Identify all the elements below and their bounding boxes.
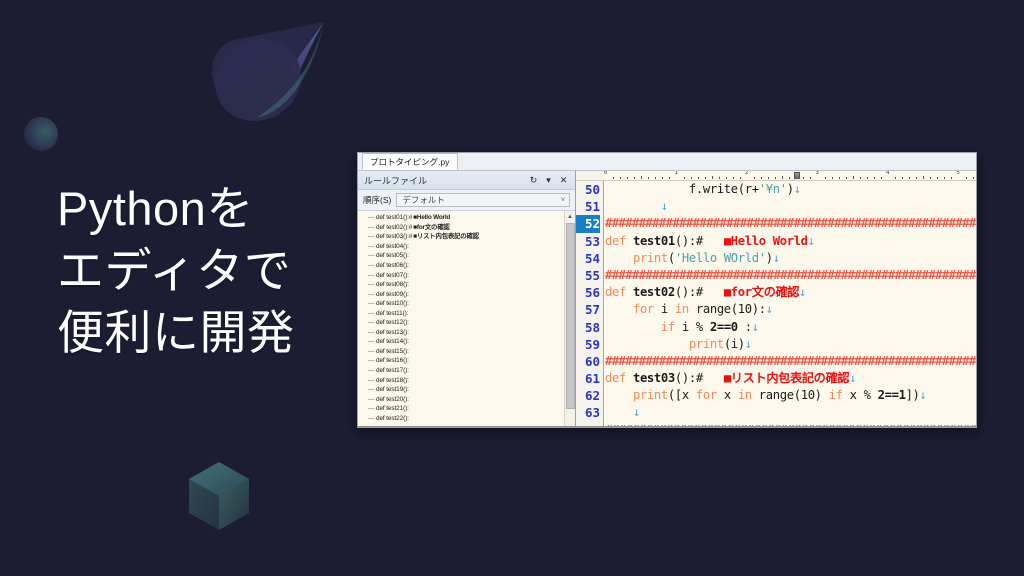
tab-strip: プロトタイピング.py xyxy=(358,153,976,171)
code-token-kw: in xyxy=(738,388,759,402)
ruler-tick xyxy=(803,177,804,179)
ruler-tick xyxy=(613,177,614,179)
ruler-tick xyxy=(712,176,713,179)
ruler-tick xyxy=(874,177,875,179)
tree-item[interactable]: —def test14(): xyxy=(362,337,564,347)
code-token-cmt: ■リスト内包表記の確認 xyxy=(703,371,849,385)
tree-branch-icon: — xyxy=(368,404,376,413)
tree-item[interactable]: —def test15(): xyxy=(362,347,564,357)
dock-title: ルールファイル xyxy=(364,174,526,187)
code-token-plain: ([ xyxy=(668,388,682,402)
ruler-tick xyxy=(825,177,826,179)
code-token-plain: ) xyxy=(787,182,794,196)
function-tree-list[interactable]: —def test01():# ■Hello World—def test02(… xyxy=(358,211,564,428)
code-token-plain: ) xyxy=(766,251,773,265)
code-token-plain: x xyxy=(682,388,696,402)
ruler-tick xyxy=(634,177,635,179)
code-token-plain: i xyxy=(682,320,696,334)
tree-item-signature: def test12(): xyxy=(376,318,409,327)
ruler-tick xyxy=(719,177,720,179)
tree-item[interactable]: —def test19(): xyxy=(362,385,564,395)
ruler-gutter-pad xyxy=(576,171,604,180)
tree-item-signature: def test13(): xyxy=(376,328,409,337)
tree-item-signature: def test04(): xyxy=(376,242,409,251)
ruler-number: 3 xyxy=(816,171,819,176)
ruler-tick xyxy=(839,177,840,179)
code-line[interactable]: ########################################… xyxy=(604,267,976,284)
code-token-op: % xyxy=(864,388,878,402)
indent xyxy=(605,251,633,265)
tree-item[interactable]: —def test13(): xyxy=(362,328,564,338)
tree-item-comment: ■リスト内包表記の確認 xyxy=(413,232,479,241)
tree-item-signature: def test07(): xyxy=(376,271,409,280)
code-token-plain: ( xyxy=(668,251,675,265)
tree-scrollbar[interactable]: ▲ xyxy=(564,211,575,428)
line-number[interactable]: 61 xyxy=(576,370,600,387)
tree-item-signature: def test09(): xyxy=(376,290,409,299)
ruler-tick xyxy=(944,177,945,179)
tree-item[interactable]: —def test04(): xyxy=(362,242,564,252)
code-token-num: 2==0 xyxy=(710,320,738,334)
indent xyxy=(605,182,689,196)
ruler-tick xyxy=(662,177,663,179)
tree-item[interactable]: —def test08(): xyxy=(362,280,564,290)
ruler-tick xyxy=(754,177,755,179)
close-icon[interactable]: ✕ xyxy=(556,173,571,188)
tree-item-signature: def test10(): xyxy=(376,299,409,308)
code-token-kw: if xyxy=(829,388,850,402)
code-token-fn: test01 xyxy=(633,234,675,248)
ruler-tick xyxy=(768,177,769,179)
line-number[interactable]: 63 xyxy=(576,404,600,421)
tree-item-signature: def test02():# xyxy=(376,223,412,232)
tree-item-signature: def test05(): xyxy=(376,251,409,260)
code-lines[interactable]: f.write(r+'¥n')↓ ↓######################… xyxy=(604,181,976,428)
ruler-number: 0 xyxy=(604,171,607,176)
line-number[interactable]: 62 xyxy=(576,387,600,404)
code-token-kw: for xyxy=(633,302,661,316)
code-token-def: def xyxy=(605,234,633,248)
ruler-tick xyxy=(923,176,924,179)
tree-branch-icon: — xyxy=(368,299,376,308)
code-line[interactable]: for i in range(10):↓ xyxy=(604,301,976,318)
code-token-fn: test02 xyxy=(633,285,675,299)
ruler-tick xyxy=(620,177,621,179)
cube-shape xyxy=(183,458,255,534)
ruler-number: 4 xyxy=(886,171,889,176)
tree-branch-icon: — xyxy=(368,223,376,232)
code-token-kw: print xyxy=(633,388,668,402)
code-line[interactable]: if i % 2==0 :↓ xyxy=(604,319,976,336)
line-number[interactable]: 59 xyxy=(576,336,600,353)
horizontal-ruler: 012345 xyxy=(576,171,976,181)
ruler-tick xyxy=(902,177,903,179)
chevron-down-icon: ˅ xyxy=(561,197,567,204)
ruler-track: 012345 xyxy=(604,171,976,180)
tree-branch-icon: — xyxy=(368,328,376,337)
line-number[interactable]: 56 xyxy=(576,284,600,301)
line-number[interactable]: 50 xyxy=(576,181,600,198)
tree-branch-icon: — xyxy=(368,309,376,318)
ruler-tick xyxy=(655,177,656,179)
code-token-cmt: ■for文の確認 xyxy=(703,285,799,299)
ruler-tick xyxy=(930,177,931,179)
indent xyxy=(605,388,633,402)
ruler-tick xyxy=(761,177,762,179)
code-token-plain: (): xyxy=(675,234,696,248)
tree-branch-icon: — xyxy=(368,385,376,394)
code-token-kw: print xyxy=(633,251,668,265)
scrollbar-thumb[interactable] xyxy=(566,223,575,409)
tree-item[interactable]: —def test10(): xyxy=(362,299,564,309)
ruler-tick xyxy=(775,177,776,179)
code-token-plain: (): xyxy=(675,285,696,299)
tree-branch-icon: — xyxy=(368,213,376,222)
indent xyxy=(605,320,661,334)
refresh-icon[interactable]: ↻ xyxy=(526,173,541,188)
code-token-def: def xyxy=(605,285,633,299)
tree-branch-icon: — xyxy=(368,318,376,327)
code-token-eol: ↓ xyxy=(661,199,668,213)
code-line[interactable]: ↓ xyxy=(604,404,976,421)
code-token-str: 'Hello WOrld' xyxy=(675,251,766,265)
tree-item-signature: def test17(): xyxy=(376,366,409,375)
indent xyxy=(605,405,633,419)
tree-item-signature: def test01():# xyxy=(376,213,412,222)
headline-line-2: エディタで xyxy=(57,240,387,302)
ruler-tick xyxy=(726,177,727,179)
code-line[interactable]: ↓ xyxy=(604,198,976,215)
ruler-tick xyxy=(966,177,967,179)
tree-item[interactable]: —def test09(): xyxy=(362,289,564,299)
tree-item[interactable]: —def test11(): xyxy=(362,308,564,318)
line-number[interactable]: 54 xyxy=(576,250,600,267)
tree-item[interactable]: —def test22(): xyxy=(362,413,564,423)
ruler-tick xyxy=(782,176,783,179)
tree-item[interactable]: —def test03():# ■リスト内包表記の確認 xyxy=(362,232,564,242)
tree-branch-icon: — xyxy=(368,251,376,260)
ruler-number: 2 xyxy=(745,171,748,176)
tree-item-signature: def test21(): xyxy=(376,404,409,413)
ruler-tick xyxy=(860,177,861,179)
code-token-eol: ↓ xyxy=(773,251,780,265)
tree-item-signature: def test08(): xyxy=(376,280,409,289)
code-token-eol: ↓ xyxy=(920,388,927,402)
headline: Pythonを エディタで 便利に開発 xyxy=(57,178,387,364)
code-token-eol: ↓ xyxy=(745,337,752,351)
indent xyxy=(605,337,689,351)
code-token-cmt: ■Hello World xyxy=(703,234,808,248)
code-token-str: '¥n' xyxy=(759,182,787,196)
dock-header: ルールファイル ↻ ▾ ✕ xyxy=(358,171,575,190)
tree-branch-icon: — xyxy=(368,395,376,404)
ruler-tick xyxy=(853,176,854,179)
sort-order-value: デフォルト xyxy=(402,194,561,206)
code-line[interactable]: print([x for x in range(10) if x % 2==1]… xyxy=(604,387,976,404)
tree-item[interactable]: —def test16(): xyxy=(362,356,564,366)
tree-item-signature: def test03():# xyxy=(376,232,412,241)
tree-item-signature: def test20(): xyxy=(376,395,409,404)
ruler-number: 5 xyxy=(957,171,960,176)
tree-item-signature: def test15(): xyxy=(376,347,409,356)
rule-file-dock-panel: ルールファイル ↻ ▾ ✕ 順序(S) デフォルト ˅ —def test01(… xyxy=(358,171,576,428)
ruler-tick xyxy=(881,177,882,179)
tree-branch-icon: — xyxy=(368,232,376,241)
tree-item[interactable]: —def test12(): xyxy=(362,318,564,328)
tree-wrap: —def test01():# ■Hello World—def test02(… xyxy=(358,211,575,428)
window-body: ルールファイル ↻ ▾ ✕ 順序(S) デフォルト ˅ —def test01(… xyxy=(358,171,976,428)
editor-window: プロトタイピング.py ルールファイル ↻ ▾ ✕ 順序(S) デフォルト ˅ xyxy=(357,152,977,428)
code-token-plain: # xyxy=(696,285,703,299)
ruler-tick xyxy=(789,177,790,179)
line-number[interactable]: 53 xyxy=(576,233,600,250)
tree-item[interactable]: —def test20(): xyxy=(362,394,564,404)
code-line[interactable]: ########################################… xyxy=(604,215,976,232)
code-editor-area: 012345 505152535455565758596061626364656… xyxy=(576,171,976,428)
ruler-tick xyxy=(740,177,741,179)
tree-branch-icon: — xyxy=(368,366,376,375)
tree-item[interactable]: —def test01():# ■Hello World xyxy=(362,213,564,223)
dock-toolbar: 順序(S) デフォルト ˅ xyxy=(358,190,575,211)
indent xyxy=(605,302,633,316)
ruler-tick xyxy=(937,177,938,179)
tree-item-comment: ■Hello World xyxy=(413,213,450,222)
code-token-plain: # xyxy=(696,371,703,385)
code-token-kw: print xyxy=(689,337,724,351)
ruler-tick xyxy=(916,177,917,179)
tree-branch-icon: — xyxy=(368,356,376,365)
tree-branch-icon: — xyxy=(368,242,376,251)
scroll-up-icon[interactable]: ▲ xyxy=(565,211,576,222)
tree-branch-icon: — xyxy=(368,261,376,270)
code-token-kw: if xyxy=(661,320,682,334)
sort-order-select[interactable]: デフォルト ˅ xyxy=(396,193,570,207)
code-line[interactable]: def test02():# ■for文の確認↓ xyxy=(604,284,976,301)
tree-item[interactable]: —def test05(): xyxy=(362,251,564,261)
window-bottom-edge xyxy=(358,426,976,427)
tree-item-signature: def test22(): xyxy=(376,414,409,423)
code-token-plain: i xyxy=(661,302,675,316)
code-line[interactable]: f.write(r+'¥n')↓ xyxy=(604,181,976,198)
code-token-plain: (i) xyxy=(724,337,745,351)
ruler-number: 1 xyxy=(675,171,678,176)
tree-item[interactable]: —def test18(): xyxy=(362,375,564,385)
indent xyxy=(605,199,661,213)
code-token-plain: ]) xyxy=(906,388,920,402)
ruler-tick xyxy=(627,177,628,179)
ruler-tick xyxy=(684,177,685,179)
ruler-tick xyxy=(669,177,670,179)
code-token-eol: ↓ xyxy=(752,320,759,334)
tree-item-comment: ■for文の確認 xyxy=(413,223,449,232)
code-token-plain: range(10) xyxy=(759,388,829,402)
line-number[interactable]: 58 xyxy=(576,319,600,336)
ruler-tick xyxy=(648,177,649,179)
tree-item[interactable]: —def test17(): xyxy=(362,366,564,376)
code-token-op: % xyxy=(696,320,710,334)
ruler-tick xyxy=(895,177,896,179)
code-line[interactable]: print(i)↓ xyxy=(604,336,976,353)
line-number[interactable]: 55 xyxy=(576,267,600,284)
tree-item-signature: def test18(): xyxy=(376,376,409,385)
tree-branch-icon: — xyxy=(368,376,376,385)
code-line[interactable]: ########################################… xyxy=(604,422,976,428)
code-token-num: 2==1 xyxy=(878,388,906,402)
code-token-plain: f.write(r+ xyxy=(689,182,759,196)
ruler-tick xyxy=(909,177,910,179)
code-token-def: def xyxy=(605,371,633,385)
ruler-tick xyxy=(733,177,734,179)
code-token-plain: x xyxy=(850,388,864,402)
tree-branch-icon: — xyxy=(368,414,376,423)
code-token-eol: ↓ xyxy=(766,302,773,316)
code-token-eol: ↓ xyxy=(794,182,801,196)
tree-branch-icon: — xyxy=(368,271,376,280)
tree-branch-icon: — xyxy=(368,280,376,289)
headline-line-3: 便利に開発 xyxy=(57,302,387,364)
tree-item-signature: def test19(): xyxy=(376,385,409,394)
line-number[interactable]: 51 xyxy=(576,198,600,215)
code-token-eol: ↓ xyxy=(799,285,806,299)
code-token-kw: for xyxy=(696,388,724,402)
code-line[interactable]: def test03():# ■リスト内包表記の確認↓ xyxy=(604,370,976,387)
tab-prototyping-py[interactable]: プロトタイピング.py xyxy=(362,153,458,170)
code-token-plain: : xyxy=(738,320,752,334)
line-number[interactable]: 60 xyxy=(576,353,600,370)
cone-shape xyxy=(196,14,346,126)
ruler-tick xyxy=(867,177,868,179)
tree-item[interactable]: —def test06(): xyxy=(362,261,564,271)
sphere-shape xyxy=(20,113,62,155)
ruler-tick xyxy=(691,177,692,179)
ruler-tick xyxy=(705,177,706,179)
code-token-kw: in xyxy=(675,302,696,316)
code-token-fn: test03 xyxy=(633,371,675,385)
tree-branch-icon: — xyxy=(368,290,376,299)
ruler-tick xyxy=(846,177,847,179)
code-line[interactable]: def test01():# ■Hello World↓ xyxy=(604,233,976,250)
ruler-tab-marker[interactable] xyxy=(794,172,800,179)
line-number[interactable]: 52 xyxy=(576,215,600,232)
tree-branch-icon: — xyxy=(368,347,376,356)
code-token-eol: ↓ xyxy=(849,371,856,385)
line-number-gutter[interactable]: 50515253545556575859606162636465666768 xyxy=(576,181,604,428)
tree-item-signature: def test16(): xyxy=(376,356,409,365)
tree-item-signature: def test11(): xyxy=(376,309,408,318)
chevron-down-icon[interactable]: ▾ xyxy=(541,173,556,188)
code-token-plain: x xyxy=(724,388,738,402)
code-line[interactable]: print('Hello WOrld')↓ xyxy=(604,250,976,267)
tree-item[interactable]: —def test07(): xyxy=(362,270,564,280)
ruler-tick xyxy=(641,176,642,179)
ruler-tick xyxy=(951,177,952,179)
code-line[interactable]: ########################################… xyxy=(604,353,976,370)
code-token-eol: ↓ xyxy=(633,405,640,419)
ruler-tick xyxy=(973,177,974,179)
code-token-plain: range(10): xyxy=(696,302,766,316)
tree-item[interactable]: —def test02():# ■for文の確認 xyxy=(362,223,564,233)
code-token-eol: ↓ xyxy=(808,234,815,248)
sort-label: 順序(S) xyxy=(363,194,391,206)
line-number[interactable]: 64 xyxy=(576,422,600,428)
code-token-plain: # xyxy=(696,234,703,248)
headline-line-1: Pythonを xyxy=(57,178,387,240)
slide-canvas: Pythonを エディタで 便利に開発 プロトタイピング.py ルールファイル … xyxy=(0,0,1024,576)
tree-item-signature: def test06(): xyxy=(376,261,409,270)
ruler-tick xyxy=(832,177,833,179)
ruler-tick xyxy=(698,177,699,179)
tree-item[interactable]: —def test21(): xyxy=(362,404,564,414)
tree-item-signature: def test14(): xyxy=(376,337,409,346)
line-number[interactable]: 57 xyxy=(576,301,600,318)
tree-branch-icon: — xyxy=(368,337,376,346)
code-token-plain: (): xyxy=(675,371,696,385)
code-scroll: 50515253545556575859606162636465666768 f… xyxy=(576,181,976,428)
ruler-tick xyxy=(810,177,811,179)
